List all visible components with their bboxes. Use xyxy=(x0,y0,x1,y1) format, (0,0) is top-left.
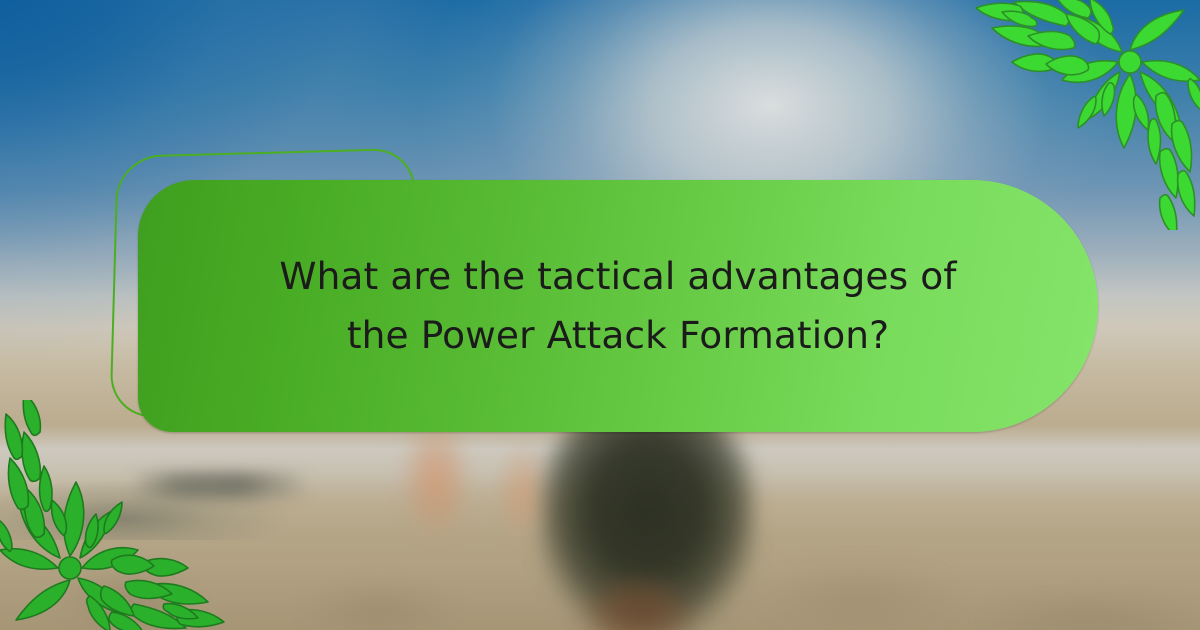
question-card: What are the tactical advantages of the … xyxy=(138,180,1098,432)
social-card-canvas: What are the tactical advantages of the … xyxy=(0,0,1200,630)
background-pier-silhouette xyxy=(130,472,310,498)
question-title: What are the tactical advantages of the … xyxy=(273,247,963,366)
background-figure-arm-left xyxy=(398,418,474,548)
background-sand-blur-c xyxy=(760,560,960,630)
background-sand-blur-a xyxy=(60,565,200,630)
